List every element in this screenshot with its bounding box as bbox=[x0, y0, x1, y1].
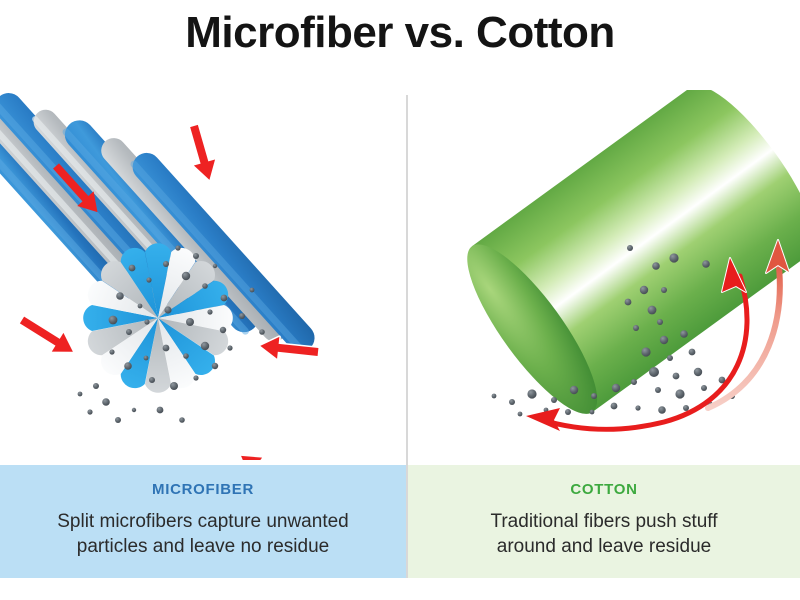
caption-heading-cotton: COTTON bbox=[408, 481, 800, 498]
arrow-top bbox=[183, 123, 220, 183]
arrow-right-lower bbox=[235, 447, 295, 460]
caption-line-1: Split microfibers capture unwanted bbox=[22, 509, 384, 534]
bottom-white-strip bbox=[0, 578, 800, 600]
microfiber-illustration bbox=[0, 90, 406, 460]
caption-line-1: Traditional fibers push stuff bbox=[430, 509, 778, 534]
caption-panel-cotton: COTTON Traditional fibers push stuff aro… bbox=[408, 465, 800, 578]
caption-panel-microfiber: MICROFIBER Split microfibers capture unw… bbox=[0, 465, 406, 578]
infographic-root: Microfiber vs. Cotton bbox=[0, 0, 800, 600]
cotton-illustration bbox=[408, 90, 800, 460]
caption-line-2: particles and leave no residue bbox=[22, 534, 384, 559]
caption-body-microfiber: Split microfibers capture unwanted parti… bbox=[0, 509, 406, 559]
caption-line-2: around and leave residue bbox=[430, 534, 778, 559]
arrow-left-upper bbox=[16, 311, 79, 361]
caption-body-cotton: Traditional fibers push stuff around and… bbox=[408, 509, 800, 559]
page-title: Microfiber vs. Cotton bbox=[0, 8, 800, 58]
microfiber-star-section bbox=[83, 243, 233, 393]
microfiber-svg bbox=[0, 90, 406, 460]
caption-heading-microfiber: MICROFIBER bbox=[0, 481, 406, 498]
cotton-svg bbox=[408, 90, 800, 460]
